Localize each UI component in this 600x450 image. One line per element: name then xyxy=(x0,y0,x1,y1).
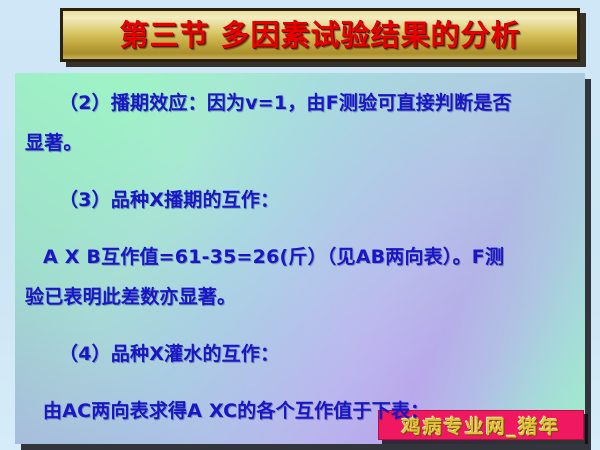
paragraph-gap xyxy=(21,220,579,237)
page-title: 第三节 多因素试验结果的分析 xyxy=(119,21,520,50)
content-panel: （2）播期效应：因为v=1，由F测验可直接判断是否 显著。 （3）品种X播期的互… xyxy=(15,73,585,444)
paragraph-gap xyxy=(21,163,579,180)
slide-body-text: （2）播期效应：因为v=1，由F测验可直接判断是否 显著。 （3）品种X播期的互… xyxy=(15,73,585,431)
slide-title-bar: 第三节 多因素试验结果的分析 xyxy=(60,8,580,62)
body-line-1: （2）播期效应：因为v=1，由F测验可直接判断是否 xyxy=(21,83,579,123)
body-line-3: （3）品种X播期的互作： xyxy=(21,180,579,220)
body-line-6: （4）品种X灌水的互作： xyxy=(21,334,579,374)
slide-canvas: 第三节 多因素试验结果的分析 （2）播期效应：因为v=1，由F测验可直接判断是否… xyxy=(0,0,600,450)
body-line-4: A X B互作值=61-35=26(斤）（见AB两向表）。F测 xyxy=(21,237,579,277)
paragraph-gap xyxy=(21,317,579,334)
body-line-2: 显著。 xyxy=(21,123,579,163)
body-line-5: 验已表明此差数亦显著。 xyxy=(21,277,579,317)
body-line-7: 由AC两向表求得A XC的各个互作值于下表： xyxy=(21,391,579,431)
paragraph-gap xyxy=(21,374,579,391)
